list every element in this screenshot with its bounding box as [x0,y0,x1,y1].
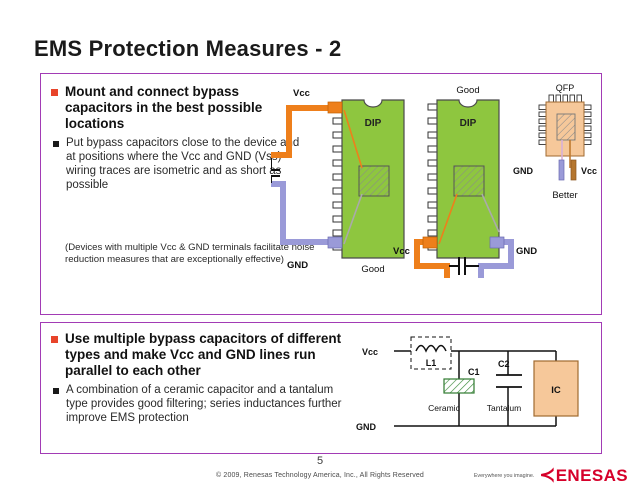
bullet-square-small-icon [53,141,59,147]
page-title: EMS Protection Measures - 2 [34,36,341,62]
dip1-gnd-label: GND [287,260,308,271]
dip-package-1: DIP [333,100,404,258]
qfp-package-label: QFP [556,83,575,93]
content-block-bypass-placement: Mount and connect bypass capacitors in t… [40,73,602,315]
block2-sub-text: A combination of a ceramic capacitor and… [66,383,358,425]
logo-chevron-icon: ≺ [539,465,555,486]
dip1-package-label: DIP [365,118,382,129]
dip1-vcc-trace [271,108,335,155]
logo-wordmark: ≺ENESAS [539,466,628,485]
filter-network-diagram: L1 C1 Ceramic C2 Tantalum IC Vcc GND [356,331,596,443]
bypass-placement-diagram: DIP [271,82,601,310]
bullet-square-icon [51,336,58,343]
qfp-package: QFP GND Vcc Better [513,83,597,201]
dip2-vcc-label: Vcc [393,246,410,257]
dip-package-2: DIP [428,100,499,258]
bullet-square-small-icon [53,388,59,394]
block2-sub-row: A combination of a ceramic capacitor and… [53,383,358,425]
logo-tagline: Everywhere you imagine. [474,473,535,479]
bypass-placement-svg: DIP [271,82,601,310]
block1-sub-text: Put bypass capacitors close to the devic… [66,136,303,192]
qfp-vcc-label: Vcc [581,166,597,176]
dip1-gnd-pad [328,237,342,248]
ceramic-label: Ceramic [428,403,460,413]
ic-label: IC [551,385,561,396]
logo-text: ENESAS [556,466,628,485]
dip2-quality-label: Good [456,85,479,96]
qfp-quality-label: Better [552,190,577,201]
inductor-label: L1 [426,358,437,368]
tantalum-label: Tantalum [487,403,522,413]
cap2-label: C2 [498,359,510,369]
dip2-package-label: DIP [460,118,477,129]
qfp-gnd-label: GND [513,166,534,176]
block2-heading-row: Use multiple bypass capacitors of differ… [51,331,351,378]
dip1-vcc-pad [328,102,342,113]
dip1-vcc-label: Vcc [293,88,310,99]
block2-heading: Use multiple bypass capacitors of differ… [65,331,351,378]
dip2-vcc-pad [423,237,437,248]
renesas-logo: Everywhere you imagine. ≺ENESAS [474,466,628,485]
schematic-vcc-label: Vcc [362,347,378,357]
schematic-gnd-label: GND [356,422,377,432]
dip1-quality-label: Good [361,264,384,275]
content-block-multiple-caps: Use multiple bypass capacitors of differ… [40,322,602,454]
dip1-bypass-capacitor [271,158,280,183]
bullet-square-icon [51,89,58,96]
dip2-gnd-pad [490,237,504,248]
dip2-gnd-label: GND [516,246,537,257]
dip1-gnd-trace [271,184,335,242]
block1-heading-row: Mount and connect bypass capacitors in t… [51,84,303,131]
cap1-label: C1 [468,367,480,377]
inductor-coil-icon [416,346,446,352]
block1-sub-row: Put bypass capacitors close to the devic… [53,136,303,192]
tantalum-capacitor-symbol [496,375,522,387]
slide-canvas: EMS Protection Measures - 2 Mount and co… [0,0,640,495]
block1-heading: Mount and connect bypass capacitors in t… [65,84,303,131]
ceramic-capacitor-symbol [444,379,474,393]
filter-network-svg: L1 C1 Ceramic C2 Tantalum IC Vcc GND [356,331,596,443]
dip2-bypass-capacitor [449,257,479,275]
